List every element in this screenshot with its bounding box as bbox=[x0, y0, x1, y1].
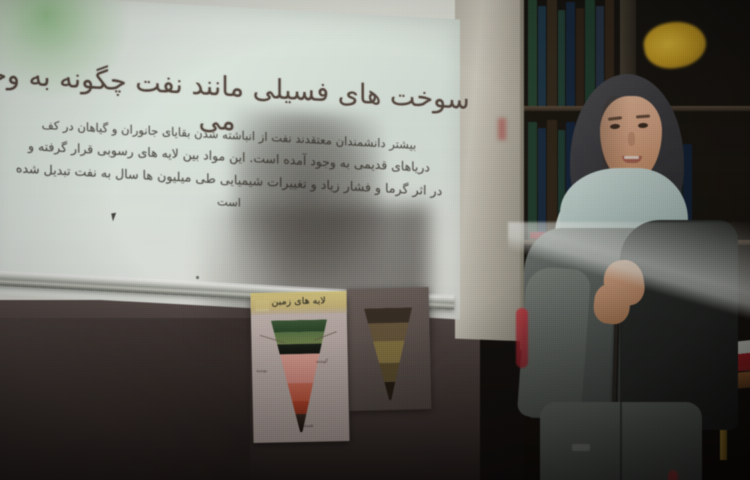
trouser-logo bbox=[572, 444, 590, 451]
earth-layer bbox=[271, 319, 327, 332]
classroom-wall-lower-left bbox=[0, 318, 250, 480]
classroom-presentation-photo: سوخت های فسیلی مانند نفت چگونه به وجود م… bbox=[0, 0, 750, 480]
earth-layer bbox=[273, 413, 329, 432]
poster-layer-label: گوشته bbox=[316, 359, 328, 364]
earth-layer bbox=[272, 353, 329, 383]
yellow-object bbox=[640, 17, 709, 73]
screen-sheen bbox=[0, 0, 460, 319]
whiteboard-projection-screen bbox=[0, 0, 460, 319]
wall-mark bbox=[498, 118, 506, 140]
teeth bbox=[624, 156, 639, 159]
clothing-red-accent bbox=[516, 308, 528, 368]
poster-title: لایه های زمین bbox=[250, 291, 346, 315]
earth-layer bbox=[364, 307, 412, 323]
earth-layer bbox=[365, 363, 413, 383]
earth-layer bbox=[364, 322, 412, 342]
earth-layers-poster-main: لایه های زمین پوسته گوشته هسته bbox=[250, 295, 349, 443]
hoodie-shadow-side bbox=[620, 220, 738, 430]
student-presenter bbox=[508, 72, 740, 480]
clothing-red-accent-lower bbox=[668, 470, 678, 480]
earth-layer bbox=[272, 382, 328, 401]
poster-layer-label: پوسته bbox=[256, 369, 267, 374]
rail-screw bbox=[196, 276, 199, 279]
earth-layer bbox=[366, 381, 414, 401]
earth-layers-poster-second bbox=[347, 287, 432, 411]
earth-layers-wedge-diagram bbox=[364, 307, 414, 400]
trouser-seam bbox=[620, 402, 622, 480]
nose bbox=[628, 132, 635, 146]
poster-layer-label: هسته bbox=[303, 424, 313, 429]
earth-layer bbox=[273, 400, 329, 415]
earth-layer bbox=[365, 341, 414, 364]
